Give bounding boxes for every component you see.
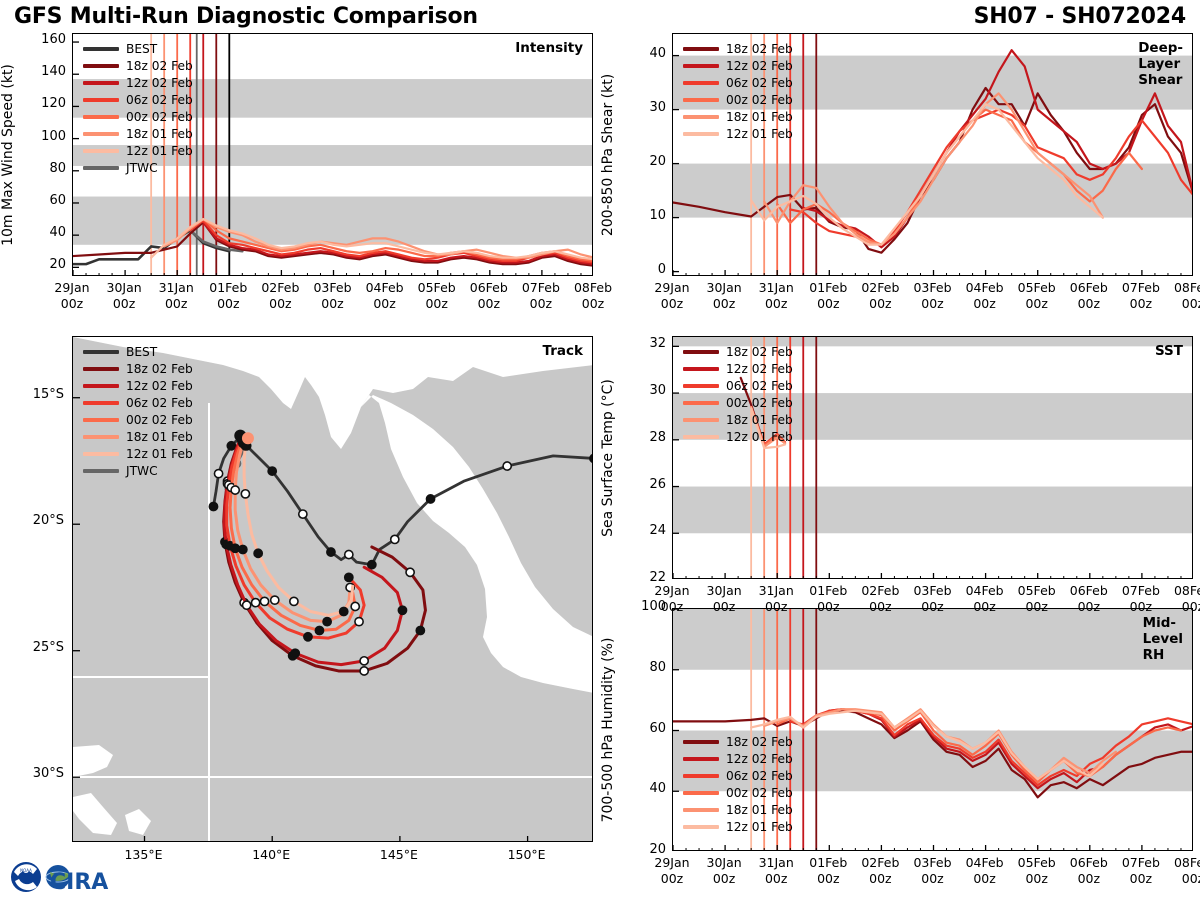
legend-item[interactable]: 18z 01 Feb: [83, 125, 193, 142]
track-point-open: [243, 601, 251, 609]
track-point-filled: [227, 442, 235, 450]
legend-item[interactable]: 06z 02 Feb: [83, 394, 193, 411]
track-point-open: [391, 535, 399, 543]
track-point-filled: [340, 607, 348, 615]
track-point-open: [299, 510, 307, 518]
legend-label: 06z 02 Feb: [126, 396, 193, 410]
legend-label: 12z 02 Feb: [726, 362, 793, 376]
y-tick-label: 20: [26, 257, 66, 272]
legend-item[interactable]: 06z 02 Feb: [683, 377, 793, 394]
legend-swatch: [83, 350, 119, 354]
legend-label: 18z 01 Feb: [726, 110, 793, 124]
legend-swatch: [683, 435, 719, 439]
legend-label: BEST: [126, 42, 157, 56]
x-tick-label: 08Feb 00z: [561, 280, 625, 311]
legend-swatch: [683, 808, 719, 812]
legend-swatch: [683, 740, 719, 744]
panel-legend: 18z 02 Feb12z 02 Feb06z 02 Feb00z 02 Feb…: [683, 343, 793, 445]
legend-item[interactable]: 06z 02 Feb: [83, 91, 193, 108]
y-tick-label: 100: [26, 129, 66, 144]
legend-label: 18z 02 Feb: [126, 59, 193, 73]
track-point-filled: [368, 561, 376, 569]
legend-item[interactable]: 12z 02 Feb: [83, 74, 193, 91]
track-point-filled: [327, 548, 335, 556]
track-origin: [242, 432, 254, 444]
track-point-open: [271, 596, 279, 604]
legend-label: 06z 02 Feb: [726, 76, 793, 90]
legend-label: 00z 02 Feb: [126, 413, 193, 427]
legend-swatch: [683, 384, 719, 388]
legend-item[interactable]: 18z 02 Feb: [683, 343, 793, 360]
track-point-open: [503, 462, 511, 470]
legend-item[interactable]: 00z 02 Feb: [683, 784, 793, 801]
legend-item[interactable]: 18z 01 Feb: [83, 428, 193, 445]
legend-item[interactable]: 00z 02 Feb: [83, 411, 193, 428]
track-point-filled: [315, 626, 323, 634]
y-tick-label: 40: [626, 46, 666, 61]
legend-swatch: [683, 757, 719, 761]
legend-swatch: [83, 367, 119, 371]
y-tick-label: 60: [626, 721, 666, 736]
legend-swatch: [683, 401, 719, 405]
legend-swatch: [683, 791, 719, 795]
y-tick-label: 10: [626, 208, 666, 223]
x-tick-label: 08Feb 00z: [1161, 855, 1200, 886]
panel-title: Deep-Layer Shear: [1138, 40, 1183, 88]
x-tick-label: 140°E: [239, 847, 303, 863]
cira-wordmark: CIRA: [50, 870, 108, 895]
y-tick-label: 24: [626, 523, 666, 538]
legend-label: 12z 02 Feb: [126, 379, 193, 393]
y-axis-label: 200-850 hPa Shear (kt): [600, 73, 616, 235]
legend-item[interactable]: 18z 02 Feb: [683, 733, 793, 750]
legend-label: 18z 02 Feb: [726, 42, 793, 56]
legend-item[interactable]: 12z 01 Feb: [683, 125, 793, 142]
track-point-open: [290, 597, 298, 605]
y-axis-label: Sea Surface Temp (°C): [600, 379, 616, 537]
legend-swatch: [83, 81, 119, 85]
legend-item[interactable]: 12z 01 Feb: [683, 818, 793, 835]
legend-swatch: [83, 469, 119, 473]
legend-label: 12z 01 Feb: [126, 144, 193, 158]
y-tick-label: 30°S: [16, 766, 64, 781]
legend-label: 12z 01 Feb: [726, 820, 793, 834]
legend-item[interactable]: 06z 02 Feb: [683, 74, 793, 91]
legend-item[interactable]: 18z 02 Feb: [83, 57, 193, 74]
legend-swatch: [683, 367, 719, 371]
track-point-filled: [209, 502, 217, 510]
legend-label: 00z 02 Feb: [726, 786, 793, 800]
legend-item[interactable]: BEST: [83, 40, 193, 57]
y-tick-label: 32: [626, 336, 666, 351]
y-axis-label: 700-500 hPa Humidity (%): [600, 637, 616, 822]
legend-item[interactable]: 18z 01 Feb: [683, 411, 793, 428]
legend-swatch: [683, 774, 719, 778]
y-tick-label: 80: [26, 161, 66, 176]
legend-item[interactable]: JTWC: [83, 462, 193, 479]
track-point-filled: [291, 649, 299, 657]
y-tick-label: 20: [626, 154, 666, 169]
legend-swatch: [83, 149, 119, 153]
legend-swatch: [683, 132, 719, 136]
legend-item[interactable]: 12z 02 Feb: [683, 750, 793, 767]
y-tick-label: 80: [626, 660, 666, 675]
panel-legend: BEST18z 02 Feb12z 02 Feb06z 02 Feb00z 02…: [83, 40, 193, 176]
legend-item[interactable]: 18z 01 Feb: [683, 108, 793, 125]
track-point-filled: [345, 573, 353, 581]
legend-swatch: [83, 418, 119, 422]
legend-swatch: [83, 384, 119, 388]
legend-item[interactable]: 12z 02 Feb: [683, 360, 793, 377]
legend-swatch: [83, 435, 119, 439]
track-point-filled: [426, 495, 434, 503]
track-point-filled: [398, 606, 406, 614]
panel-legend: 18z 02 Feb12z 02 Feb06z 02 Feb00z 02 Feb…: [683, 733, 793, 835]
legend-label: 06z 02 Feb: [726, 379, 793, 393]
legend-label: 06z 02 Feb: [126, 93, 193, 107]
panel-title: SST: [1155, 343, 1183, 359]
legend-label: 18z 02 Feb: [726, 735, 793, 749]
track-point-open: [355, 618, 363, 626]
legend-swatch: [83, 98, 119, 102]
legend-label: 12z 01 Feb: [726, 430, 793, 444]
legend-label: 18z 02 Feb: [726, 345, 793, 359]
y-tick-label: 30: [626, 383, 666, 398]
legend-item[interactable]: 18z 02 Feb: [83, 360, 193, 377]
track-point-open: [260, 597, 268, 605]
legend-swatch: [83, 132, 119, 136]
legend-swatch: [83, 401, 119, 405]
storm-id-title: SH07 - SH072024: [974, 4, 1186, 29]
y-tick-label: 20°S: [16, 513, 64, 528]
legend-label: 00z 02 Feb: [126, 110, 193, 124]
legend-swatch: [83, 166, 119, 170]
legend-item[interactable]: 12z 01 Feb: [83, 142, 193, 159]
legend-swatch: [683, 47, 719, 51]
y-axis-label: 10m Max Wind Speed (kt): [0, 64, 16, 246]
track-point-open: [406, 568, 414, 576]
track-point-open: [241, 490, 249, 498]
legend-label: 12z 02 Feb: [726, 752, 793, 766]
legend-swatch: [683, 81, 719, 85]
legend-swatch: [683, 115, 719, 119]
legend-swatch: [683, 98, 719, 102]
track-point-open: [252, 599, 260, 607]
track-point-filled: [254, 549, 262, 557]
track-point-filled: [416, 626, 424, 634]
legend-item[interactable]: 12z 02 Feb: [83, 377, 193, 394]
legend-label: 12z 02 Feb: [126, 76, 193, 90]
y-tick-label: 30: [626, 100, 666, 115]
panel-title: Track: [543, 343, 583, 359]
legend-label: 12z 01 Feb: [126, 447, 193, 461]
legend-swatch: [83, 115, 119, 119]
legend-label: 12z 02 Feb: [726, 59, 793, 73]
legend-item[interactable]: 18z 02 Feb: [683, 40, 793, 57]
legend-label: 06z 02 Feb: [726, 769, 793, 783]
legend-swatch: [683, 825, 719, 829]
legend-swatch: [83, 64, 119, 68]
y-tick-label: 26: [626, 477, 666, 492]
noaa-logo: NOAA: [11, 862, 41, 892]
track-point-open: [231, 486, 239, 494]
legend-item[interactable]: 12z 01 Feb: [83, 445, 193, 462]
panel-title: Mid-Level RH: [1143, 615, 1183, 663]
y-tick-label: 160: [26, 32, 66, 47]
legend-item[interactable]: JTWC: [83, 159, 193, 176]
legend-swatch: [683, 418, 719, 422]
y-tick-label: 15°S: [16, 387, 64, 402]
legend-label: BEST: [126, 345, 157, 359]
noaa-cira-logo: NOAA CIRA: [6, 856, 156, 898]
track-point-open: [360, 667, 368, 675]
legend-swatch: [83, 452, 119, 456]
y-tick-label: 25°S: [16, 640, 64, 655]
legend-label: 18z 02 Feb: [126, 362, 193, 376]
legend-label: 18z 01 Feb: [726, 413, 793, 427]
legend-swatch: [83, 47, 119, 51]
legend-label: 18z 01 Feb: [126, 127, 193, 141]
legend-label: 18z 01 Feb: [726, 803, 793, 817]
legend-label: JTWC: [126, 464, 158, 478]
legend-label: 00z 02 Feb: [726, 93, 793, 107]
page-title: GFS Multi-Run Diagnostic Comparison: [14, 4, 478, 29]
x-tick-label: 150°E: [495, 847, 559, 863]
panel-legend: 18z 02 Feb12z 02 Feb06z 02 Feb00z 02 Feb…: [683, 40, 793, 142]
x-tick-label: 08Feb 00z: [1161, 280, 1200, 311]
track-point-open: [214, 470, 222, 478]
track-point-open: [345, 550, 353, 558]
legend-item[interactable]: BEST: [83, 343, 193, 360]
track-point-filled: [323, 618, 331, 626]
legend-label: 12z 01 Feb: [726, 127, 793, 141]
legend-item[interactable]: 18z 01 Feb: [683, 801, 793, 818]
legend-item[interactable]: 12z 02 Feb: [683, 57, 793, 74]
y-tick-label: 100: [626, 599, 666, 614]
track-point-filled: [239, 545, 247, 553]
cira-logo: CIRA: [46, 865, 108, 895]
legend-item[interactable]: 12z 01 Feb: [683, 428, 793, 445]
legend-label: JTWC: [126, 161, 158, 175]
svg-text:NOAA: NOAA: [20, 868, 32, 873]
y-tick-label: 40: [26, 225, 66, 240]
panel-title: Intensity: [515, 40, 583, 56]
y-tick-label: 60: [26, 193, 66, 208]
y-tick-label: 120: [26, 96, 66, 111]
track-point-open: [351, 602, 359, 610]
y-tick-label: 0: [626, 262, 666, 277]
track-point-open: [360, 657, 368, 665]
x-tick-label: 08Feb 00z: [1161, 583, 1200, 614]
legend-item[interactable]: 00z 02 Feb: [683, 394, 793, 411]
y-tick-label: 40: [626, 781, 666, 796]
legend-swatch: [683, 350, 719, 354]
track-point-filled: [268, 467, 276, 475]
legend-label: 00z 02 Feb: [726, 396, 793, 410]
y-tick-label: 28: [626, 430, 666, 445]
legend-item[interactable]: 06z 02 Feb: [683, 767, 793, 784]
panel-legend: BEST18z 02 Feb12z 02 Feb06z 02 Feb00z 02…: [83, 343, 193, 479]
x-tick-label: 145°E: [367, 847, 431, 863]
track-point-filled: [231, 544, 239, 552]
track-point-filled: [304, 633, 312, 641]
legend-swatch: [683, 64, 719, 68]
y-tick-label: 140: [26, 64, 66, 79]
legend-item[interactable]: 00z 02 Feb: [683, 91, 793, 108]
legend-item[interactable]: 00z 02 Feb: [83, 108, 193, 125]
track-point-filled: [590, 454, 593, 462]
legend-label: 18z 01 Feb: [126, 430, 193, 444]
